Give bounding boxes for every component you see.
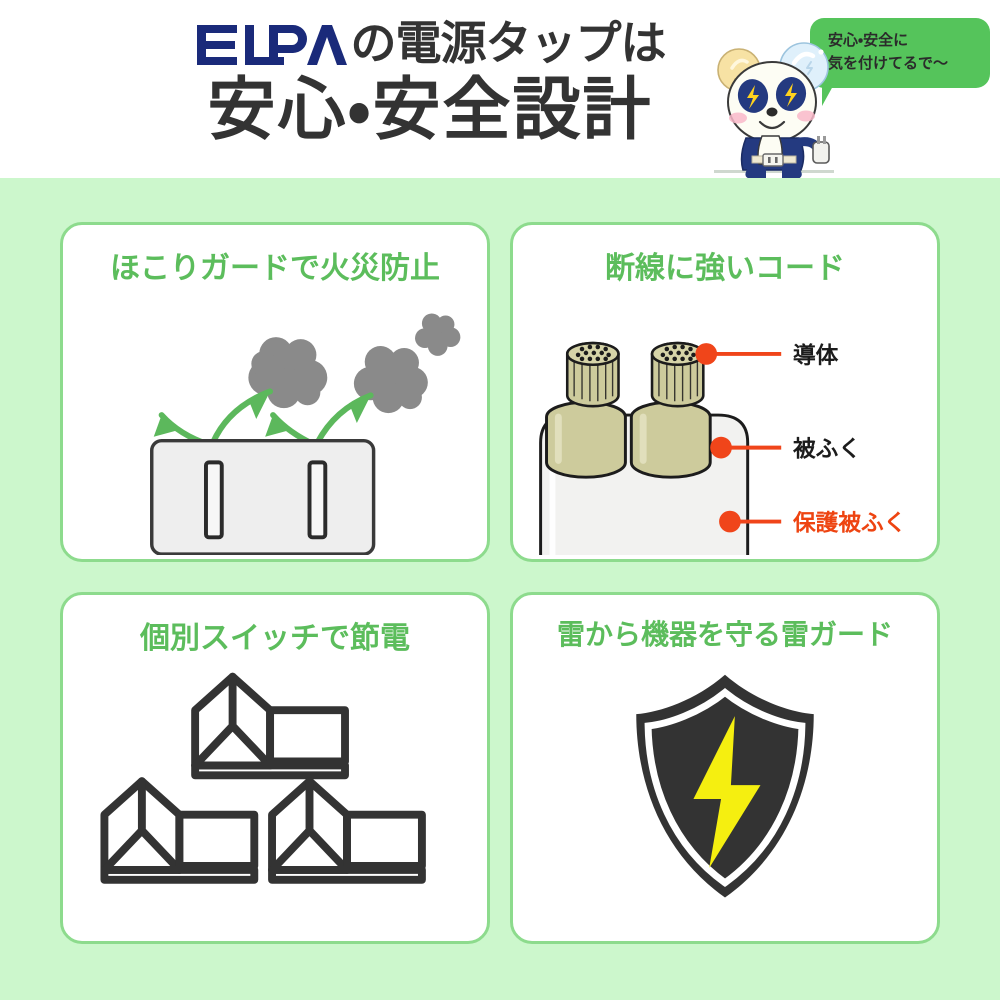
rocker-switch-icon	[104, 781, 254, 880]
dust-escape-arrow	[162, 391, 371, 444]
headline-block: の電源タップは 安心・安全設計	[150, 14, 710, 147]
feature-card-surge-guard: 雷から機器を守る雷ガード	[510, 592, 940, 944]
headline-line-1: の電源タップは	[150, 14, 710, 72]
card-title-surge-guard: 雷から機器を守る雷ガード	[513, 613, 937, 653]
speech-bubble-line-1: 安心・安全に	[828, 29, 990, 52]
elpa-mascot-illustration	[708, 30, 848, 180]
elpa-logo	[195, 20, 347, 66]
figure-shield-with-lightning-bolt	[513, 653, 937, 937]
rocker-switch-icon	[195, 677, 345, 776]
mascot-plug	[800, 136, 829, 163]
cable-label-insulation: 被ふく	[792, 435, 861, 461]
headline-line-2: 安心・安全設計	[150, 74, 710, 147]
rocker-switch-icon	[272, 781, 422, 880]
mascot-area: 安心・安全に 気を付けてるで～	[700, 0, 1000, 185]
figure-three-rocker-switches	[63, 653, 487, 937]
figure-cable-cross-section: 導体 被ふく 保護被ふく	[513, 283, 937, 555]
cable-core-left	[547, 343, 626, 477]
card-title-individual-switch: 個別スイッチで節電	[63, 613, 487, 657]
cable-label-protective-sheath: 保護被ふく	[792, 509, 906, 535]
dust-cloud-icon	[248, 313, 460, 413]
shield-icon	[636, 675, 813, 898]
headline-line-1-text: の電源タップは	[351, 20, 666, 66]
outlet-plate-icon	[152, 441, 374, 554]
feature-card-dust-guard: ほこりガードで火災防止	[60, 222, 490, 562]
cable-core-right	[631, 343, 710, 477]
feature-card-strong-cord: 断線に強いコード	[510, 222, 940, 562]
cable-label-conductor: 導体	[793, 342, 839, 368]
figure-outlet-with-dust-clouds	[63, 283, 487, 555]
header: の電源タップは 安心・安全設計 安心・安全に 気を付けてるで～	[0, 0, 1000, 178]
card-title-dust-guard: ほこりガードで火災防止	[63, 243, 487, 287]
card-title-strong-cord: 断線に強いコード	[513, 243, 937, 287]
feature-card-individual-switch: 個別スイッチで節電	[60, 592, 490, 944]
speech-bubble-line-2: 気を付けてるで～	[828, 52, 990, 75]
infographic-page: の電源タップは 安心・安全設計 安心・安全に 気を付けてるで～	[0, 0, 1000, 1000]
